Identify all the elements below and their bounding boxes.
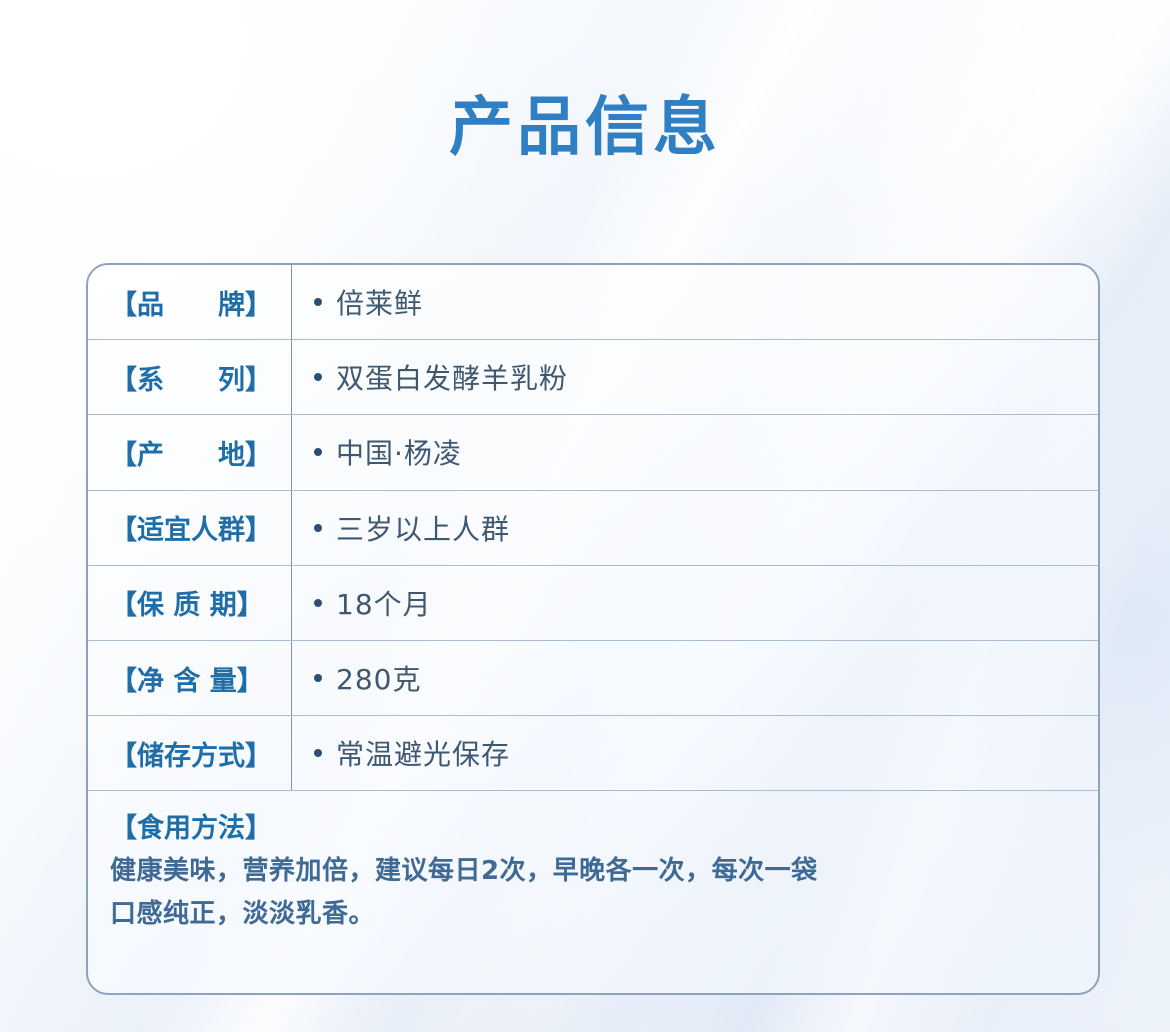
usage-instructions-block: 【食用方法】 健康美味，营养加倍，建议每日2次，早晚各一次，每次一袋 口感纯正，… xyxy=(88,791,1098,935)
bullet-icon xyxy=(314,373,322,381)
table-row: 【净 含 量】 280克 xyxy=(88,641,1098,716)
spec-value-target-group-text: 三岁以上人群 xyxy=(336,508,510,548)
spec-value-series: 双蛋白发酵羊乳粉 xyxy=(291,340,1098,414)
spec-value-shelf-life-text: 18个月 xyxy=(336,583,432,623)
spec-value-storage: 常温避光保存 xyxy=(291,716,1098,790)
spec-value-brand: 倍莱鲜 xyxy=(291,265,1098,339)
bullet-icon xyxy=(314,674,322,682)
table-row: 【储存方式】 常温避光保存 xyxy=(88,716,1098,791)
spec-label-target-group: 【适宜人群】 xyxy=(88,508,291,547)
table-row: 【系 列】 双蛋白发酵羊乳粉 xyxy=(88,340,1098,415)
bullet-icon xyxy=(314,749,322,757)
spec-value-target-group: 三岁以上人群 xyxy=(291,491,1098,565)
spec-value-origin: 中国·杨凌 xyxy=(291,415,1098,489)
spec-label-series: 【系 列】 xyxy=(88,358,291,397)
table-row: 【适宜人群】 三岁以上人群 xyxy=(88,491,1098,566)
spec-value-origin-text: 中国·杨凌 xyxy=(336,432,462,472)
table-row: 【产 地】 中国·杨凌 xyxy=(88,415,1098,490)
page-title: 产品信息 xyxy=(0,96,1170,160)
table-row: 【保 质 期】 18个月 xyxy=(88,566,1098,641)
spec-value-brand-text: 倍莱鲜 xyxy=(336,282,423,322)
spec-value-shelf-life: 18个月 xyxy=(291,566,1098,640)
spec-label-storage: 【储存方式】 xyxy=(88,734,291,773)
spec-label-brand: 【品 牌】 xyxy=(88,283,291,322)
bullet-icon xyxy=(314,298,322,306)
usage-instructions-line: 健康美味，营养加倍，建议每日2次，早晚各一次，每次一袋 xyxy=(110,850,1098,893)
bullet-icon xyxy=(314,524,322,532)
product-info-card: 【品 牌】 倍莱鲜 【系 列】 双蛋白发酵羊乳粉 【产 地】 中国·杨凌 【适宜… xyxy=(86,263,1100,995)
spec-label-shelf-life: 【保 质 期】 xyxy=(88,583,291,622)
usage-instructions-title: 【食用方法】 xyxy=(110,809,1098,850)
spec-value-storage-text: 常温避光保存 xyxy=(336,733,510,773)
table-row: 【品 牌】 倍莱鲜 xyxy=(88,265,1098,340)
bullet-icon xyxy=(314,448,322,456)
bullet-icon xyxy=(314,599,322,607)
spec-value-net-weight-text: 280克 xyxy=(336,658,421,698)
spec-label-origin: 【产 地】 xyxy=(88,433,291,472)
spec-label-net-weight: 【净 含 量】 xyxy=(88,659,291,698)
usage-instructions-line: 口感纯正，淡淡乳香。 xyxy=(110,893,1098,936)
spec-value-net-weight: 280克 xyxy=(291,641,1098,715)
spec-value-series-text: 双蛋白发酵羊乳粉 xyxy=(336,357,568,397)
